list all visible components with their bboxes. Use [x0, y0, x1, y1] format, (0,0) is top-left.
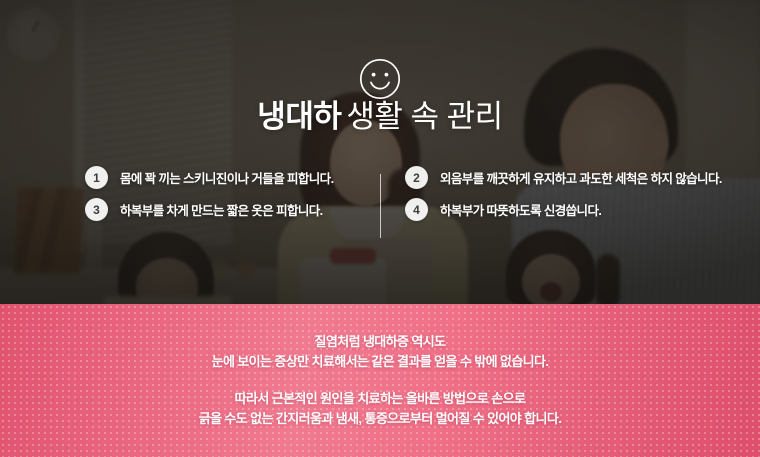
- pink-paragraph-2-line-2: 긁을 수도 없는 간지러움과 냄새, 통증으로부터 멀어질 수 있어야 합니다.: [199, 409, 562, 429]
- pink-paragraph-1-line-2: 눈에 보이는 증상만 치료해서는 같은 결과를 얻을 수 밖에 없습니다.: [212, 352, 549, 372]
- tip-item-4: 4 하복부가 따뜻하도록 신경씁니다.: [380, 198, 760, 221]
- page-title-light: 생활 속 관리: [341, 99, 502, 134]
- tip-item-3: 3 하복부를 차게 만드는 짧은 옷은 피합니다.: [0, 198, 380, 221]
- tip-text-4: 하복부가 따뜻하도록 신경씁니다.: [440, 200, 601, 219]
- tip-badge-1: 1: [85, 166, 108, 189]
- page-title: 냉대하생활 속 관리: [0, 100, 760, 134]
- photo-banner: 냉대하생활 속 관리 1 몸에 꽉 끼는 스키니진이나 거들을 피합니다. 2 …: [0, 0, 760, 304]
- tips-list: 1 몸에 꽉 끼는 스키니진이나 거들을 피합니다. 2 외음부를 깨끗하게 유…: [0, 166, 760, 230]
- tip-text-3: 하복부를 차게 만드는 짧은 옷은 피합니다.: [120, 200, 323, 219]
- tip-text-2: 외음부를 깨끗하게 유지하고 과도한 세척은 하지 않습니다.: [440, 168, 722, 187]
- tip-text-1: 몸에 꽉 끼는 스키니진이나 거들을 피합니다.: [120, 168, 333, 187]
- pink-message-panel: 질염처럼 냉대하증 역시도 눈에 보이는 증상만 치료해서는 같은 결과를 얻을…: [0, 304, 760, 457]
- tips-row-1: 1 몸에 꽉 끼는 스키니진이나 거들을 피합니다. 2 외음부를 깨끗하게 유…: [0, 166, 760, 189]
- pink-paragraph-1: 질염처럼 냉대하증 역시도 눈에 보이는 증상만 치료해서는 같은 결과를 얻을…: [212, 332, 549, 372]
- pink-paragraph-2-line-1: 따라서 근본적인 원인을 치료하는 올바른 방법으로 손으로: [199, 389, 562, 409]
- pink-paragraph-1-line-1: 질염처럼 냉대하증 역시도: [212, 332, 549, 352]
- page-title-strong: 냉대하: [257, 99, 341, 134]
- tip-badge-4: 4: [405, 198, 428, 221]
- tip-badge-2: 2: [405, 166, 428, 189]
- tip-badge-3: 3: [85, 198, 108, 221]
- pink-paragraph-2: 따라서 근본적인 원인을 치료하는 올바른 방법으로 손으로 긁을 수도 없는 …: [199, 389, 562, 429]
- tips-row-2: 3 하복부를 차게 만드는 짧은 옷은 피합니다. 4 하복부가 따뜻하도록 신…: [0, 198, 760, 221]
- smiley-face-icon: [358, 57, 402, 101]
- promo-page: 냉대하생활 속 관리 1 몸에 꽉 끼는 스키니진이나 거들을 피합니다. 2 …: [0, 0, 760, 457]
- tip-item-2: 2 외음부를 깨끗하게 유지하고 과도한 세척은 하지 않습니다.: [380, 166, 760, 189]
- tip-item-1: 1 몸에 꽉 끼는 스키니진이나 거들을 피합니다.: [0, 166, 380, 189]
